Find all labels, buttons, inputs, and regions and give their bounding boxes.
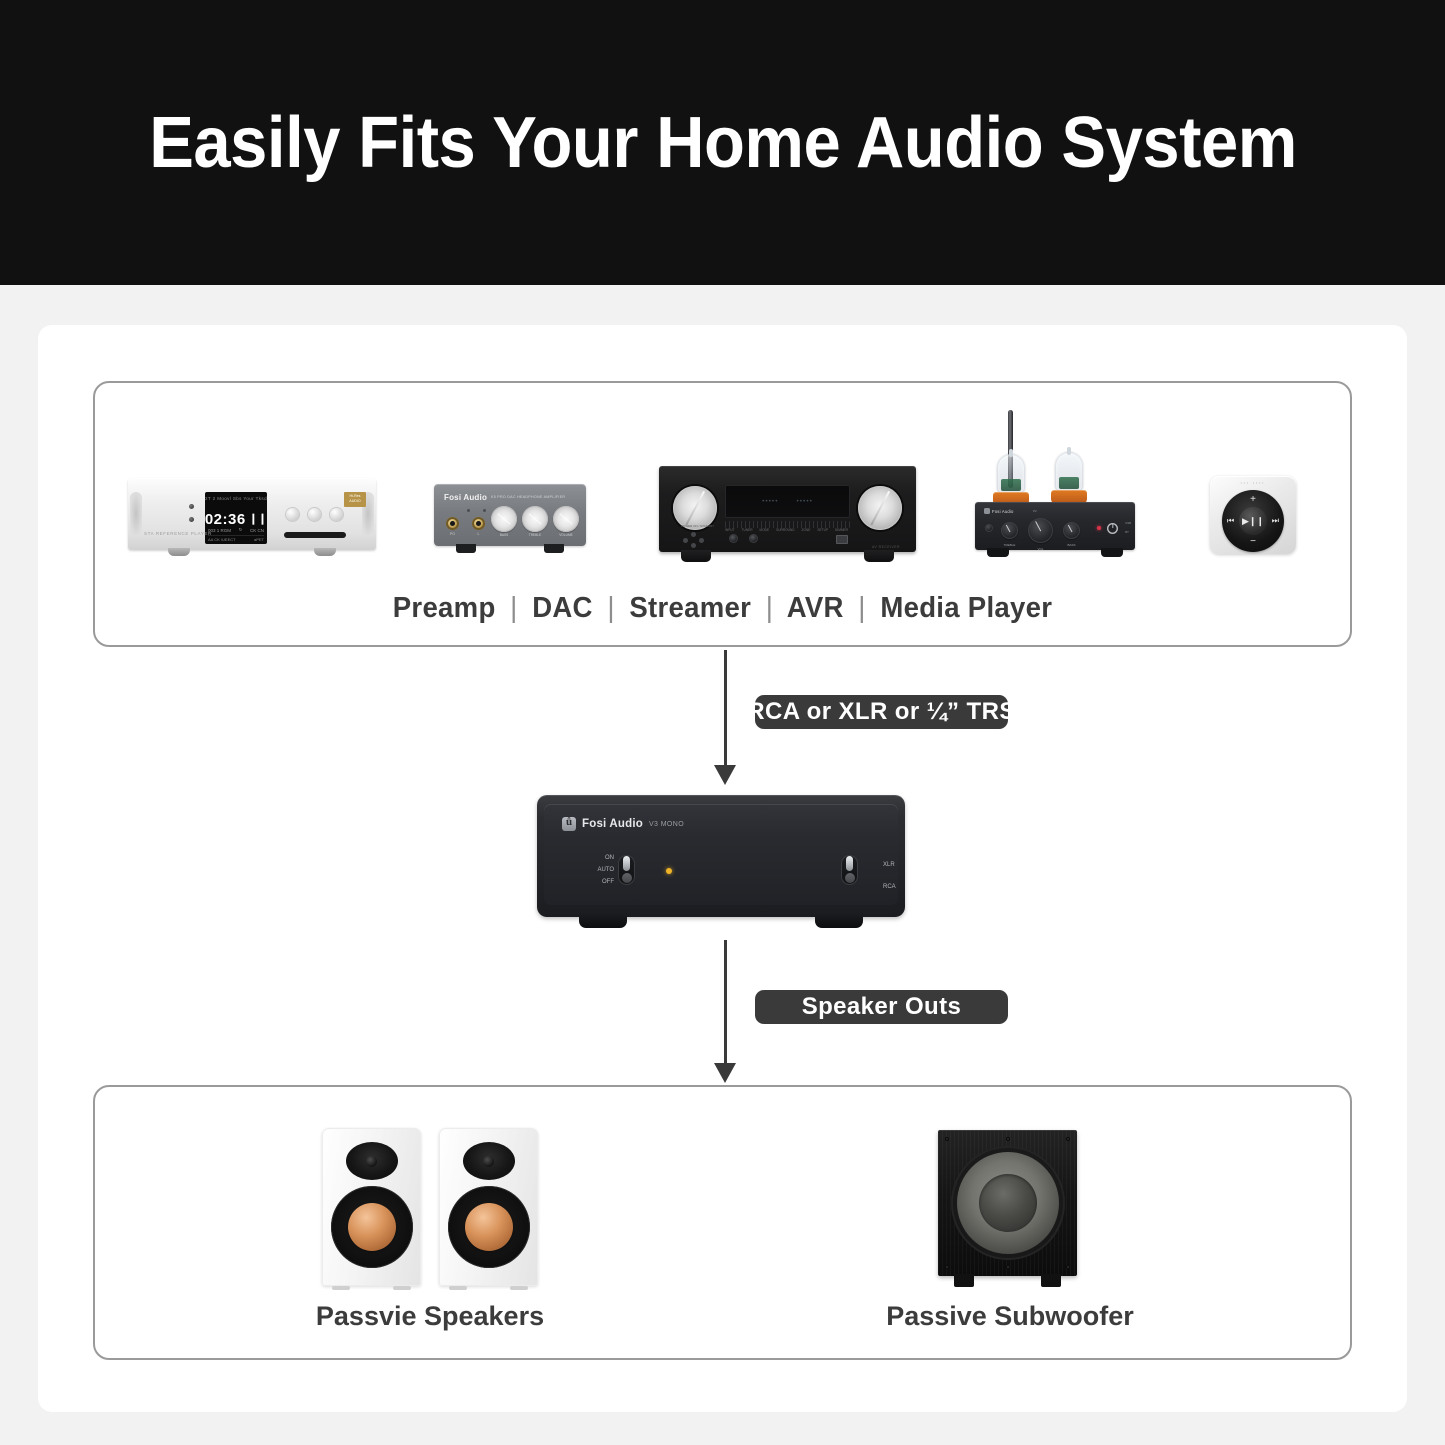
subwoofer-screw xyxy=(1006,1137,1010,1141)
arrow-sources-to-amp xyxy=(711,650,739,785)
tube-amp-brand-text: Fosi Audio xyxy=(984,508,1014,514)
speaker-foot xyxy=(393,1286,411,1290)
power-mode-switch[interactable]: ON AUTO OFF xyxy=(582,852,656,888)
amplifier-model-label: V3 MONO xyxy=(649,821,684,828)
fosi-logo-mark xyxy=(984,508,990,514)
preamp-display-time: 02:36 xyxy=(205,511,246,528)
avr-label-zone: ZONE xyxy=(802,528,811,532)
hires-audio-badge: Hi-Res AUDIO xyxy=(344,492,366,507)
avr-volume-knob[interactable] xyxy=(858,486,902,530)
arrow-head-icon xyxy=(714,1063,736,1083)
media-player-top-text: ••• •••• xyxy=(1210,481,1296,485)
dac-model-text: K5 PRO DAC HEADPHONE AMPLIFIER xyxy=(491,495,565,499)
tube-amp-right-labels: USB BT xyxy=(1125,519,1131,537)
preamp-display-bottom-right: aPET xyxy=(254,537,264,542)
previous-track-icon[interactable]: ⏮ xyxy=(1227,517,1234,525)
volume-up-icon[interactable]: + xyxy=(1250,495,1256,505)
device-media-player: ••• •••• + − ⏮ ⏭ ▶❙❙ xyxy=(1210,476,1296,554)
caption-media-player: Media Player xyxy=(880,592,1052,624)
speaker-woofer xyxy=(331,1186,413,1268)
dac-jack-label-1: PO xyxy=(446,532,459,536)
avr-display: ••••• ••••• xyxy=(725,485,850,518)
tube-amp-knobs[interactable]: TREBLE VOL BASS xyxy=(1001,518,1080,543)
avr-navigation-pad[interactable] xyxy=(683,532,705,548)
caption-dac: DAC xyxy=(532,592,593,624)
speaker-foot xyxy=(449,1286,467,1290)
power-icon[interactable] xyxy=(1107,523,1118,534)
dac-feet xyxy=(434,544,586,554)
subwoofer-screw xyxy=(945,1265,949,1269)
hires-badge-line-2: AUDIO xyxy=(344,499,366,504)
passive-speakers-caption: Passvie Speakers xyxy=(250,1301,610,1332)
tube-amp-power-led xyxy=(1097,526,1101,530)
power-mode-switch-labels: ON AUTO OFF xyxy=(582,852,614,888)
input-label-rca: RCA xyxy=(883,876,917,898)
volume-down-icon[interactable]: − xyxy=(1250,537,1256,547)
tube-knob-label-treble: TREBLE xyxy=(997,543,1022,547)
arrow-head-icon xyxy=(714,765,736,785)
preamp-display-row-right: CK CN xyxy=(250,528,264,533)
caption-separator-4: | xyxy=(852,592,873,624)
vacuum-tube-left xyxy=(997,454,1025,494)
power-label-on: ON xyxy=(582,852,614,864)
avr-vent-grille xyxy=(725,521,850,528)
dac-knobs[interactable]: BASS TREBLE VOLUME xyxy=(491,506,579,532)
input-select-switch[interactable]: XLR RCA xyxy=(839,852,913,888)
preamp-display: 2T 2 Moovl Sbs Your Tksd 02:36 ❙❙ 003 1 … xyxy=(205,492,267,544)
dac-knob-label-treble: TREBLE xyxy=(519,533,551,537)
avr-label-dimmer: DIMMER xyxy=(835,528,848,532)
tube-amp-label-usb: USB xyxy=(1125,519,1131,528)
arrow-shaft xyxy=(724,940,727,1065)
pause-icon: ❙❙ xyxy=(249,512,267,525)
preamp-feet xyxy=(128,548,376,557)
preamp-display-top-text: 2T 2 Moovl Sbs Your Tksd xyxy=(205,496,267,501)
dac-knob-label-bass: BASS xyxy=(488,533,520,537)
passive-subwoofer-caption: Passive Subwoofer xyxy=(830,1301,1190,1332)
subwoofer-feet xyxy=(938,1274,1077,1288)
preamp-side-notch-left xyxy=(130,492,142,536)
device-preamp: 2T 2 Moovl Sbs Your Tksd 02:36 ❙❙ 003 1 … xyxy=(128,472,376,560)
avr-display-segment-1: ••••• xyxy=(762,498,778,505)
subwoofer-screw xyxy=(1006,1265,1010,1269)
device-dac: Fosi Audio K5 PRO DAC HEADPHONE AMPLIFIE… xyxy=(434,484,586,560)
device-passive-speakers xyxy=(322,1128,538,1288)
media-player-chassis: ••• •••• + − ⏮ ⏭ ▶❙❙ xyxy=(1210,476,1296,554)
amplifier-brand-label: Fosi Audio xyxy=(582,818,643,830)
speaker-foot xyxy=(510,1286,528,1290)
avr-label-surround: SURROUND xyxy=(776,528,794,532)
header-band: Easily Fits Your Home Audio System xyxy=(0,0,1445,285)
subwoofer-screw xyxy=(945,1137,949,1141)
preamp-disc-slot xyxy=(284,532,346,538)
caption-separator-1: | xyxy=(503,592,524,624)
avr-label-input: INPUT xyxy=(725,528,735,532)
input-connection-badge: RCA or XLR or ¼” TRS xyxy=(755,695,1008,729)
subwoofer-screw xyxy=(1066,1137,1070,1141)
bookshelf-speaker-right xyxy=(439,1128,538,1286)
tube-amp-label-bt: BT xyxy=(1125,528,1131,537)
subwoofer-driver-cone xyxy=(979,1174,1037,1232)
subwoofer-driver xyxy=(951,1146,1065,1260)
caption-preamp: Preamp xyxy=(393,592,496,624)
power-label-auto: AUTO xyxy=(582,864,614,876)
preamp-display-bottom-left: AA CK /UEECT xyxy=(208,537,236,542)
page-title: Easily Fits Your Home Audio System xyxy=(149,102,1297,184)
fosi-logo-icon xyxy=(562,817,576,831)
tube-amp-brand-label: Fosi Audio xyxy=(992,509,1014,514)
device-fosi-v3-mono-amplifier: Fosi Audio V3 MONO ON AUTO OFF XLR xyxy=(537,795,905,930)
infographic-page: Easily Fits Your Home Audio System 2T 2 … xyxy=(0,0,1445,1445)
tube-amp-chassis: Fosi Audio P2 TREBLE VOL BASS USB BT xyxy=(975,502,1135,550)
avr-label-setup: SETUP xyxy=(817,528,828,532)
avr-chassis: ••••• ••••• POWER ON / STANDBY INPUT TUN… xyxy=(659,466,916,552)
subwoofer-screw xyxy=(1066,1265,1070,1269)
arrow-shaft xyxy=(724,650,727,767)
bookshelf-speaker-left xyxy=(322,1128,421,1286)
next-track-icon[interactable]: ⏭ xyxy=(1272,517,1279,525)
avr-brand-text: AV RECEIVER xyxy=(872,545,900,549)
speaker-tweeter xyxy=(346,1142,398,1180)
preamp-brand-text: STA REFERENCE PLAYER xyxy=(144,531,212,536)
dac-leds xyxy=(467,509,486,512)
caption-streamer: Streamer xyxy=(629,592,751,624)
amplifier-faceplate: Fosi Audio V3 MONO ON AUTO OFF XLR xyxy=(544,804,898,905)
tube-amp-feet xyxy=(975,548,1135,558)
dac-brand-text: Fosi Audio xyxy=(444,493,487,502)
tube-amp-headphone-jack[interactable] xyxy=(985,524,993,532)
avr-front-jacks[interactable] xyxy=(729,534,758,543)
avr-power-label: POWER ON / STANDBY xyxy=(681,524,714,528)
source-devices-caption: Preamp | DAC | Streamer | AVR | Media Pl… xyxy=(36,592,1409,625)
input-label-xlr: XLR xyxy=(883,854,917,876)
preamp-buttons[interactable] xyxy=(286,508,343,521)
avr-display-segment-2: ••••• xyxy=(797,498,813,505)
dac-chassis: Fosi Audio K5 PRO DAC HEADPHONE AMPLIFIE… xyxy=(434,484,586,546)
device-avr: ••••• ••••• POWER ON / STANDBY INPUT TUN… xyxy=(659,466,916,566)
media-player-control-ring[interactable]: + − ⏮ ⏭ ▶❙❙ xyxy=(1222,490,1284,552)
avr-label-mode: MODE xyxy=(760,528,770,532)
tube-amp-model-text: P2 xyxy=(1033,509,1037,513)
speaker-tweeter xyxy=(463,1142,515,1180)
avr-usb-port[interactable] xyxy=(836,535,848,544)
output-connection-badge: Speaker Outs xyxy=(755,990,1008,1024)
tube-knob-label-bass: BASS xyxy=(1059,543,1084,547)
subwoofer-cabinet xyxy=(938,1130,1077,1276)
input-select-toggle-lever[interactable] xyxy=(841,855,858,885)
repeat-icon: ↻ xyxy=(239,527,243,533)
speaker-foot xyxy=(332,1286,350,1290)
avr-label-tuner: TUNER xyxy=(742,528,753,532)
amplifier-status-led xyxy=(666,868,672,874)
caption-avr: AVR xyxy=(787,592,844,624)
speaker-woofer xyxy=(448,1186,530,1268)
vacuum-tube-right xyxy=(1055,452,1083,492)
preamp-indicator-dots xyxy=(189,504,194,530)
dac-jack-label-2: L xyxy=(472,532,485,536)
preamp-display-info-row: 003 1 RGM ↻ CK CN xyxy=(208,527,264,533)
input-select-switch-labels: XLR RCA xyxy=(883,854,917,898)
power-mode-toggle-lever[interactable] xyxy=(618,855,635,885)
avr-feet xyxy=(659,550,916,563)
preamp-display-bottom-row: AA CK /UEECT aPET xyxy=(208,535,264,542)
arrow-amp-to-speakers xyxy=(711,940,739,1083)
amplifier-logo: Fosi Audio V3 MONO xyxy=(562,817,684,831)
caption-separator-2: | xyxy=(601,592,622,624)
power-label-off: OFF xyxy=(582,876,614,888)
caption-separator-3: | xyxy=(759,592,780,624)
device-tube-amp: Fosi Audio P2 TREBLE VOL BASS USB BT xyxy=(975,410,1135,562)
amplifier-feet xyxy=(537,913,905,929)
device-passive-subwoofer xyxy=(938,1130,1077,1288)
dac-headphone-jacks[interactable]: PO L xyxy=(446,517,485,530)
avr-control-labels: INPUT TUNER MODE SURROUND ZONE SETUP DIM… xyxy=(725,528,850,532)
play-pause-icon[interactable]: ▶❙❙ xyxy=(1239,507,1267,535)
amplifier-chassis: Fosi Audio V3 MONO ON AUTO OFF XLR xyxy=(537,795,905,917)
preamp-chassis: 2T 2 Moovl Sbs Your Tksd 02:36 ❙❙ 003 1 … xyxy=(128,478,376,550)
dac-knob-label-volume: VOLUME xyxy=(550,533,582,537)
